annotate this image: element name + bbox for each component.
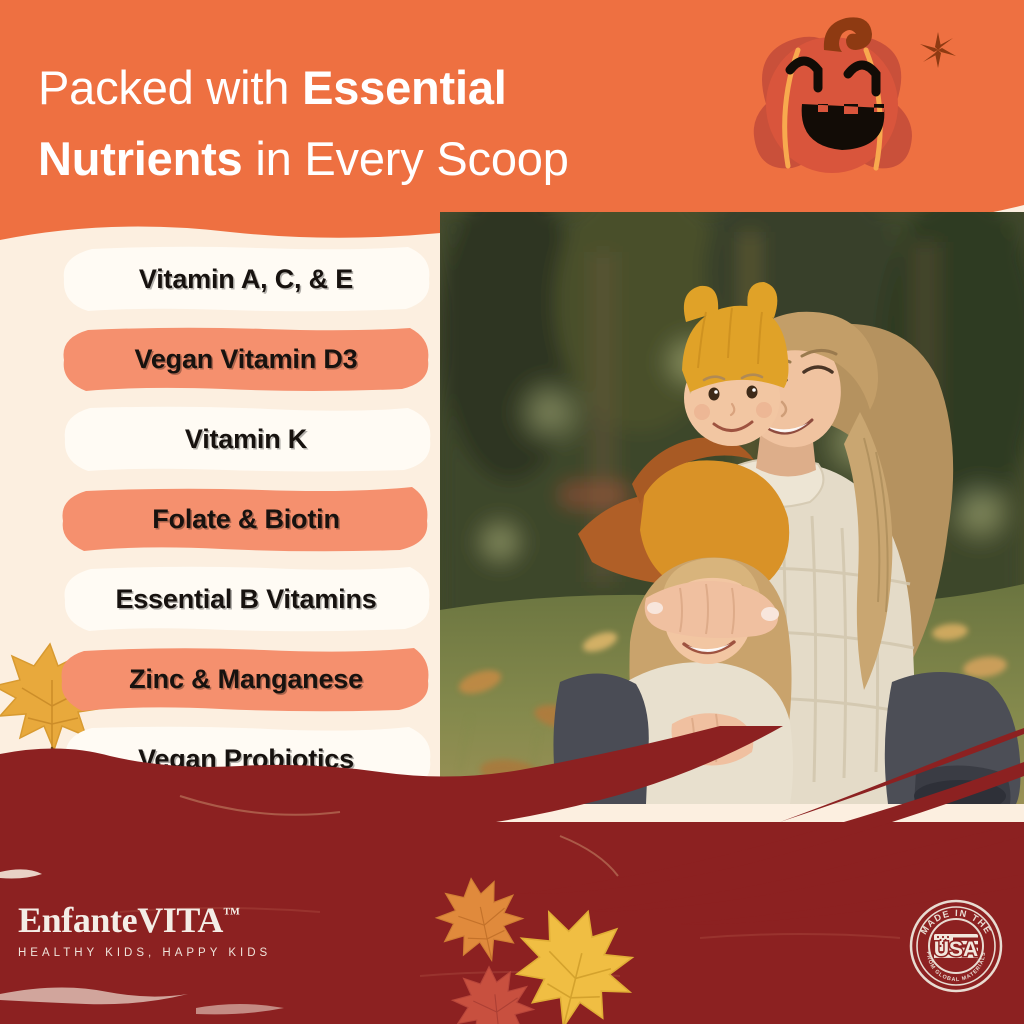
nutrient-label: Vitamin K bbox=[185, 424, 307, 455]
nutrient-pill[interactable]: Vitamin A, C, & E bbox=[62, 248, 430, 310]
nutrient-pill[interactable]: Folate & Biotin bbox=[62, 488, 430, 550]
nutrient-label: Vegan Vitamin D3 bbox=[135, 344, 358, 375]
page-title: Packed with Essential Nutrients in Every… bbox=[38, 52, 678, 195]
nutrient-pill[interactable]: Essential B Vitamins bbox=[62, 568, 430, 630]
headline-line-2: Nutrients in Every Scoop bbox=[38, 123, 678, 194]
trademark-symbol: ™ bbox=[223, 904, 240, 923]
headline-bold-1: Essential bbox=[302, 61, 507, 114]
logo-name: EnfanteVITA bbox=[18, 900, 223, 940]
logo-wordmark: EnfanteVITA™ bbox=[18, 902, 271, 938]
badge-center-text: USA bbox=[934, 938, 978, 961]
logo-tagline: HEALTHY KIDS, HAPPY KIDS bbox=[18, 947, 271, 959]
headline-line-1: Packed with Essential bbox=[38, 52, 678, 123]
nutrient-label: Zinc & Manganese bbox=[129, 664, 363, 695]
headline-bold-2: Nutrients bbox=[38, 132, 243, 185]
nutrient-pill[interactable]: Vitamin K bbox=[62, 408, 430, 470]
brand-logo: EnfanteVITA™ HEALTHY KIDS, HAPPY KIDS bbox=[18, 902, 271, 959]
nutrient-pill[interactable]: Vegan Vitamin D3 bbox=[62, 328, 430, 390]
poster-canvas: Packed with Essential Nutrients in Every… bbox=[0, 0, 1024, 1024]
nutrient-label: Essential B Vitamins bbox=[115, 584, 376, 615]
nutrient-pill[interactable]: Zinc & Manganese bbox=[62, 648, 430, 710]
sparkle-icon bbox=[916, 28, 960, 72]
badge-top-arc-text: MADE IN THE bbox=[918, 908, 993, 936]
made-in-usa-badge: USA MADE IN THE FROM GLOBAL MATERIALS bbox=[908, 898, 1004, 994]
headline-normal-2: in Every Scoop bbox=[243, 132, 569, 185]
headline-normal-1: Packed with bbox=[38, 61, 302, 114]
maple-leaves-footer bbox=[432, 872, 642, 1024]
nutrient-list: Vitamin A, C, & E Vegan Vitamin D3 Vitam… bbox=[0, 248, 440, 808]
nutrient-label: Vitamin A, C, & E bbox=[139, 264, 353, 295]
family-photo bbox=[440, 212, 1024, 804]
nutrient-label: Folate & Biotin bbox=[152, 504, 340, 535]
